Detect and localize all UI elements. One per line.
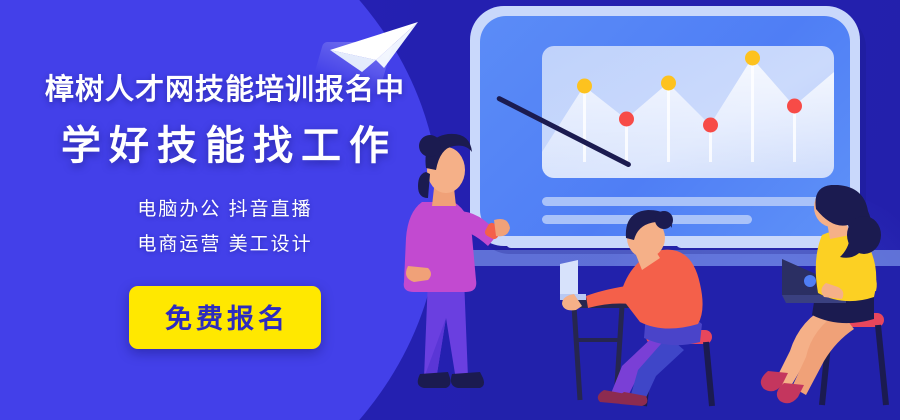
chart-peak-dot: [577, 79, 592, 94]
chart-peak-dot: [661, 76, 676, 91]
subtitle-block: 电脑办公 抖音直播 电商运营 美工设计: [137, 192, 312, 262]
free-signup-button[interactable]: 免费报名: [129, 286, 321, 349]
headline-secondary: 学好技能找工作: [53, 126, 397, 166]
headline-primary: 樟树人才网技能培训报名中: [45, 76, 405, 105]
subtitle-line-2: 电商运营 美工设计: [137, 227, 312, 262]
chart-peak-dot: [745, 51, 760, 66]
seated-man-figure: [560, 210, 740, 410]
seated-woman-figure: [760, 185, 900, 410]
chart-valley-dot: [619, 112, 634, 127]
subtitle-line-1: 电脑办公 抖音直播: [137, 192, 312, 227]
chart-valley-dot: [703, 118, 718, 133]
area-chart: [542, 46, 834, 178]
chart-valley-dot: [787, 99, 802, 114]
promo-banner: 樟树人才网技能培训报名中 学好技能找工作 电脑办公 抖音直播 电商运营 美工设计…: [0, 0, 900, 420]
presenter-figure: [390, 128, 510, 413]
chart-screen: [542, 46, 834, 178]
banner-copy: 樟树人才网技能培训报名中 学好技能找工作 电脑办公 抖音直播 电商运营 美工设计…: [0, 0, 450, 420]
